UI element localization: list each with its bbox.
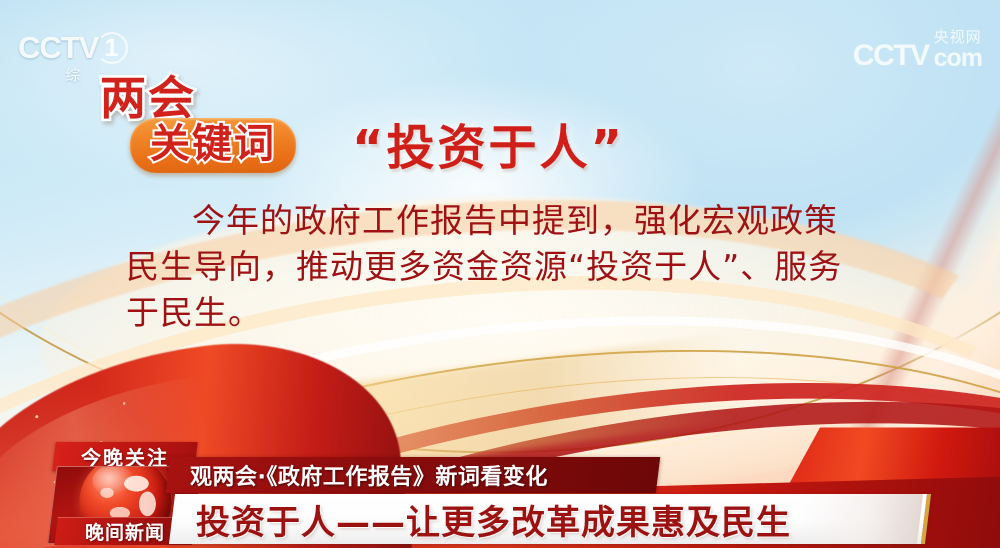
broadcast-screen: CCTV 1 综 CCTV 央视网 com 两会 关键词 “投资于人” 今年的政… bbox=[0, 0, 1000, 548]
keyword-badge: 关键词 bbox=[130, 118, 296, 173]
body-line-2: 民生导向，推动更多资金资源“投资于人”、服务 bbox=[126, 244, 878, 290]
channel-number: 1 bbox=[94, 31, 128, 65]
main-title-bar: 投资于人——让更多改革成果惠及民生 bbox=[169, 494, 931, 544]
lower-third-banner: 今晚关注 晚间新闻 观两会·《政府工作报告》新词看变化 投资于人——让更多改革成… bbox=[0, 433, 1000, 548]
cctv-com-watermark: CCTV 央视网 com bbox=[853, 30, 982, 71]
subtitle-text: 观两会·《政府工作报告》新词看变化 bbox=[190, 459, 548, 491]
cctv1-logo-row: CCTV 1 bbox=[18, 30, 128, 66]
keyword-badge-label: 关键词 bbox=[150, 123, 276, 165]
watermark-right-stack: 央视网 com bbox=[934, 30, 982, 71]
subtitle-bar: 观两会·《政府工作报告》新词看变化 bbox=[166, 457, 660, 493]
program-name-label: 晚间新闻 bbox=[85, 518, 165, 545]
watermark-domain: com bbox=[934, 46, 982, 71]
body-line-3: 于民生。 bbox=[126, 290, 878, 336]
main-title-bar-fade bbox=[797, 494, 923, 544]
main-title-text: 投资于人——让更多改革成果惠及民生 bbox=[196, 495, 791, 544]
channel-subtitle: 综 bbox=[65, 64, 81, 85]
watermark-cn-label: 央视网 bbox=[934, 30, 982, 45]
body-line-1: 今年的政府工作报告中提到，强化宏观政策 bbox=[126, 198, 878, 244]
main-headline: “投资于人” bbox=[352, 108, 625, 178]
watermark-brand: CCTV bbox=[853, 41, 929, 71]
body-paragraph: 今年的政府工作报告中提到，强化宏观政策 民生导向，推动更多资金资源“投资于人”、… bbox=[126, 198, 878, 336]
cctv-wordmark: CCTV bbox=[18, 30, 98, 66]
